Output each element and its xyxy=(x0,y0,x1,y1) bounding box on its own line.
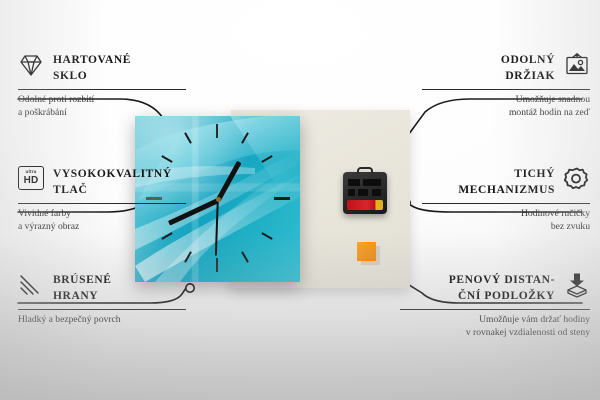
callout-divider xyxy=(422,89,590,90)
infographic-canvas: HARTOVANÉ SKLO Odolné proti rozbití a po… xyxy=(0,0,600,400)
foam-spacer-icon xyxy=(564,272,590,298)
callout-title: BRÚSENÉ HRANY xyxy=(53,272,112,304)
callout-description: Umožňuje snadnou montáž hodin na zeď xyxy=(422,94,590,120)
clock-mechanism xyxy=(343,172,387,214)
diamond-icon xyxy=(18,52,44,78)
callout-divider xyxy=(422,203,590,204)
callout-description: Odolné proti rozbití a poškrábání xyxy=(18,94,186,120)
clock-hand-hub xyxy=(216,197,221,202)
callout-divider xyxy=(18,89,186,90)
mechanism-hanger-lug xyxy=(357,167,373,174)
ultra-hd-icon: ultra HD xyxy=(18,166,44,192)
mechanism-battery xyxy=(347,200,383,210)
callout-high-quality-print: ultra HD VYSOKOKVALITNÝ TLAČ Vividné far… xyxy=(18,166,186,234)
callout-description: Vividné farby a výrazný obraz xyxy=(18,208,186,234)
callout-divider xyxy=(18,309,186,310)
callout-foam-spacers: PENOVÝ DISTAN- ČNÍ PODLOŽKY Umožňuje vám… xyxy=(400,272,590,340)
picture-hanger-icon xyxy=(564,52,590,78)
callout-title: VYSOKOKVALITNÝ TLAČ xyxy=(53,166,172,198)
callout-silent-mechanism: TICHÝ MECHANIZMUS Hodinové ručičky bez z… xyxy=(422,166,590,234)
callout-durable-hanger: ODOLNÝ DRŽIAK Umožňuje snadnou montáž ho… xyxy=(422,52,590,120)
callout-title: ODOLNÝ DRŽIAK xyxy=(501,52,555,84)
foam-spacer-pad xyxy=(357,242,376,261)
clock-tick xyxy=(216,124,218,138)
clock-tick xyxy=(274,197,290,200)
callout-divider xyxy=(400,309,590,310)
ground-edges-icon xyxy=(18,272,44,298)
callout-ground-edges: BRÚSENÉ HRANY Hladký a bezpečný povrch xyxy=(18,272,186,327)
callout-title: PENOVÝ DISTAN- ČNÍ PODLOŽKY xyxy=(449,272,555,304)
callout-divider xyxy=(18,203,186,204)
callout-title: HARTOVANÉ SKLO xyxy=(53,52,131,84)
callout-title: TICHÝ MECHANIZMUS xyxy=(458,166,555,198)
callout-description: Umožňuje vám držať hodiny v rovnakej vzd… xyxy=(400,314,590,340)
clock-tick xyxy=(216,258,218,272)
gear-icon xyxy=(564,166,590,192)
callout-hardened-glass: HARTOVANÉ SKLO Odolné proti rozbití a po… xyxy=(18,52,186,120)
callout-description: Hodinové ručičky bez zvuku xyxy=(422,208,590,234)
callout-description: Hladký a bezpečný povrch xyxy=(18,314,186,327)
